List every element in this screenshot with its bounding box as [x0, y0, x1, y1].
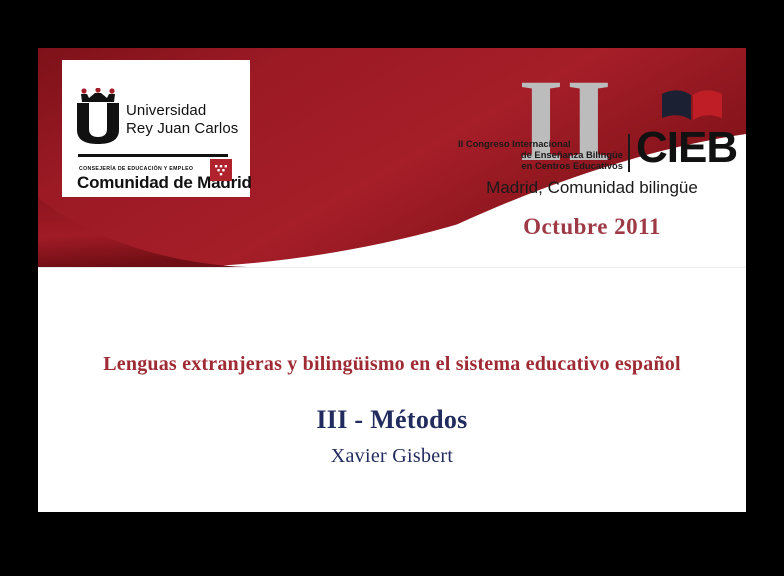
university-name-line2: Rey Juan Carlos	[126, 120, 238, 138]
institution-logo-card: Universidad Rey Juan Carlos CONSEJERÍA D…	[62, 60, 250, 197]
university-name-line1: Universidad	[126, 102, 238, 120]
congress-title-line3: en Centros Educativos	[458, 160, 623, 171]
congress-date: Octubre 2011	[458, 214, 726, 240]
cieb-logo-block: II II Congreso Internacional de Enseñanz…	[458, 86, 726, 206]
congress-title-lines: II Congreso Internacional de Enseñanza B…	[458, 138, 623, 171]
madrid-shield-icon	[210, 159, 232, 181]
region-department-label: CONSEJERÍA DE EDUCACIÓN Y EMPLEO	[79, 166, 193, 172]
congress-title-line2: de Enseñanza Bilingüe	[458, 149, 623, 160]
slide-banner: Universidad Rey Juan Carlos CONSEJERÍA D…	[38, 48, 746, 267]
logo-divider	[78, 154, 228, 157]
crown-icon	[80, 88, 116, 103]
open-book-icon	[660, 86, 724, 122]
presentation-slide: Universidad Rey Juan Carlos CONSEJERÍA D…	[38, 48, 746, 512]
cieb-acronym: CIEB	[636, 126, 737, 170]
slide-body: Lenguas extranjeras y bilingüismo en el …	[38, 268, 746, 512]
university-name: Universidad Rey Juan Carlos	[126, 102, 238, 138]
section-title: III - Métodos	[38, 405, 746, 435]
author-name: Xavier Gisbert	[38, 445, 746, 468]
congress-title-line1: II Congreso Internacional	[458, 138, 623, 149]
urjc-u-letter	[76, 102, 120, 145]
page-title: Lenguas extranjeras y bilingüismo en el …	[38, 353, 746, 376]
cieb-tagline: Madrid, Comunidad bilingüe	[458, 178, 726, 198]
cieb-vertical-divider	[628, 134, 630, 172]
